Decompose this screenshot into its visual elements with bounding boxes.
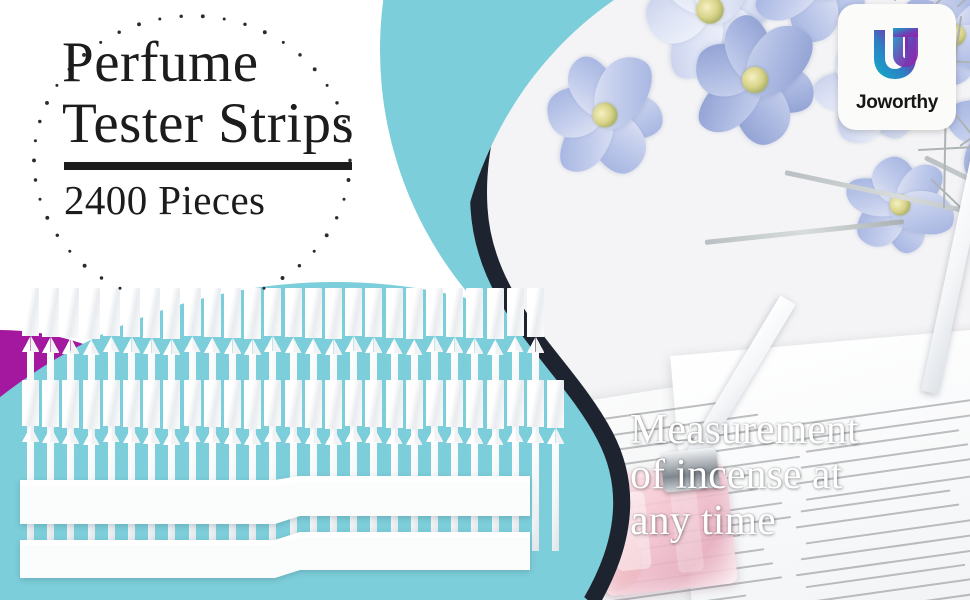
headline-block: Perfume Tester Strips 2400 Pieces xyxy=(46,34,486,224)
brand-logo-card: Joworthy xyxy=(838,4,956,130)
title-divider-rule xyxy=(64,162,352,170)
page-title-line-2: Tester Strips xyxy=(62,95,486,152)
page-title-line-1: Perfume xyxy=(62,34,486,91)
feature-caption: Measurement of incense at any time xyxy=(630,408,960,544)
hand-holding-strip xyxy=(965,275,970,525)
brand-name: Joworthy xyxy=(856,92,938,114)
joworthy-ju-monogram-icon xyxy=(864,22,930,86)
tester-strip-large-upper xyxy=(20,476,530,528)
tester-strip-large-lower xyxy=(20,532,530,584)
caption-line-2: of incense at xyxy=(630,453,960,498)
caption-line-1: Measurement xyxy=(630,408,960,453)
caption-line-3: any time xyxy=(630,499,960,544)
product-banner: Perfume Tester Strips 2400 Pieces Measur… xyxy=(0,0,970,600)
quantity-label: 2400 Pieces xyxy=(64,176,486,224)
